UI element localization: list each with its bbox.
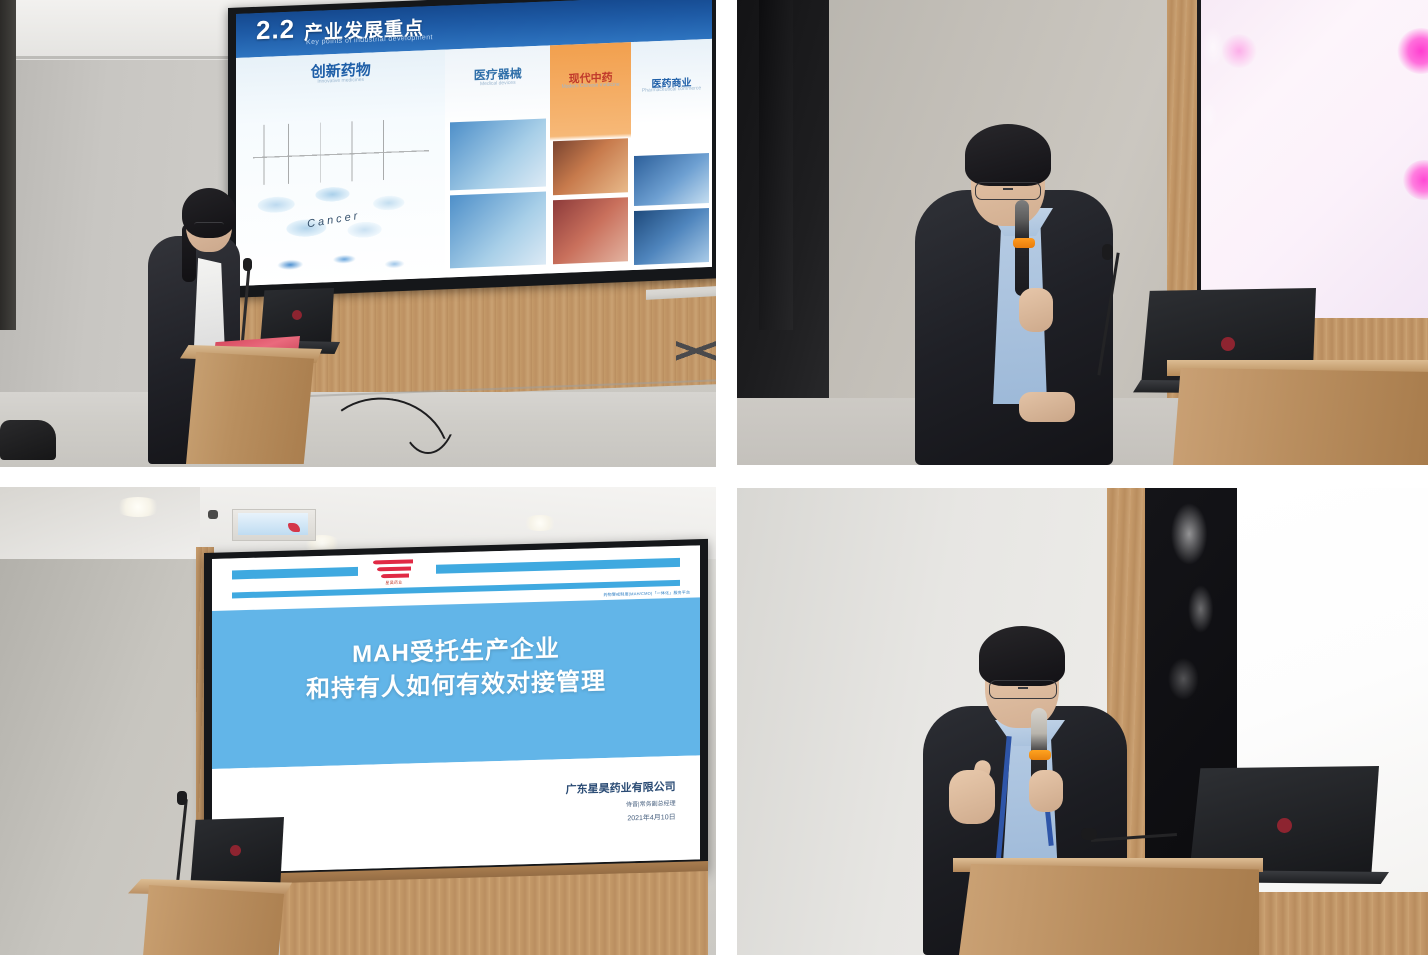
podium [959, 864, 1259, 955]
slide-column-modern-tcm: 现代中药 Modern Chinese medicine [550, 42, 631, 273]
screen-blob [1221, 34, 1257, 68]
dell-logo-icon [1277, 818, 1292, 833]
molecule-structure-icon [253, 119, 429, 185]
chair [0, 420, 56, 460]
dell-logo-icon [1221, 337, 1235, 351]
device-photo [450, 191, 546, 268]
slide-columns: 创新药物 Innovative medicines Cancer 医疗器械 Me… [236, 39, 712, 286]
security-camera-icon [208, 510, 218, 519]
slide-column-pharma-commerce: 医药商业 Pharmaceutical commerce [631, 39, 712, 270]
slide-title-band: MAH受托生产企业 和持有人如何有效对接管理 [212, 597, 700, 769]
microphone-band [1013, 238, 1035, 248]
slide-column-medical-devices: 医疗器械 Medical devices [445, 45, 550, 277]
photo-top-left[interactable]: 2.2 产业发展重点 Key points of industrial deve… [0, 0, 716, 467]
speaker-gesturing-hand [949, 770, 995, 824]
slide-section-number: 2.2 [256, 14, 295, 47]
led-wall-screen[interactable]: 2.2 产业发展重点 Key points of industrial deve… [236, 0, 712, 286]
microphone-icon [1102, 244, 1113, 260]
speaker-glasses-icon [989, 680, 1057, 699]
commerce-photo [634, 153, 708, 206]
speaker-hand [1019, 392, 1075, 422]
presenter-glasses-icon [194, 222, 224, 231]
microphone-icon [1081, 828, 1097, 840]
speaker-glasses-icon [975, 182, 1041, 200]
handheld-microphone-icon [1015, 200, 1029, 296]
dell-logo-icon [230, 845, 241, 856]
header-bar [436, 558, 680, 574]
slide-header-note: 药物警戒制度(MAH/CMO)「一体化」服务平台 [603, 590, 690, 598]
speaker-hand [1019, 288, 1053, 332]
glasses-bridge [1003, 188, 1013, 190]
microphone-band [1029, 750, 1051, 760]
photo-bottom-left[interactable]: 星昊药业 药物警戒制度(MAH/CMO)「一体化」服务平台 MAH受托生产企业 … [0, 487, 716, 955]
ceiling-shadow [0, 487, 200, 559]
tripod-icon [676, 316, 716, 384]
dna-photo [244, 241, 437, 283]
microphone-icon [177, 791, 187, 805]
photo-top-right[interactable] [737, 0, 1428, 465]
led-wall-screen[interactable]: 星昊药业 药物警戒制度(MAH/CMO)「一体化」服务平台 MAH受托生产企业 … [212, 545, 700, 873]
dark-doorway-inner [759, 0, 793, 330]
photo-bottom-right[interactable] [737, 488, 1428, 955]
door-jamb [0, 0, 16, 330]
podium [134, 885, 284, 955]
header-bar [232, 567, 359, 580]
ceiling-downlight-icon [522, 515, 558, 531]
screen-swirl-graphic [1193, 4, 1233, 184]
logo-caption: 星昊药业 [373, 579, 415, 586]
speaker-hair [965, 124, 1051, 186]
speaker-hand [1029, 770, 1063, 812]
device-photo [450, 119, 546, 191]
podium [186, 352, 314, 464]
screen-swirl-graphic [1145, 494, 1241, 744]
wood-wainscot [280, 871, 708, 955]
photo-collage: 2.2 产业发展重点 Key points of industrial deve… [0, 0, 1428, 955]
podium [1173, 368, 1428, 465]
glasses-bridge [1018, 687, 1028, 689]
slide-column-innovative-medicines: 创新药物 Innovative medicines Cancer [236, 50, 445, 286]
tcm-photo [553, 138, 627, 196]
warehouse-photo [634, 208, 708, 266]
dell-logo-icon [292, 310, 302, 320]
tcm-photo [553, 197, 627, 264]
microphone-icon [243, 258, 252, 271]
speaker-hair [979, 626, 1065, 686]
slide-presenter-role: 侍晋|常务副总经理 [626, 798, 676, 808]
slide-company: 广东星昊药业有限公司 [566, 778, 676, 797]
ceiling-downlight-icon [114, 497, 162, 517]
slide-date: 2021年4月10日 [627, 812, 675, 823]
slide-footer: 广东星昊药业有限公司 侍晋|常务副总经理 2021年4月10日 [212, 755, 700, 873]
